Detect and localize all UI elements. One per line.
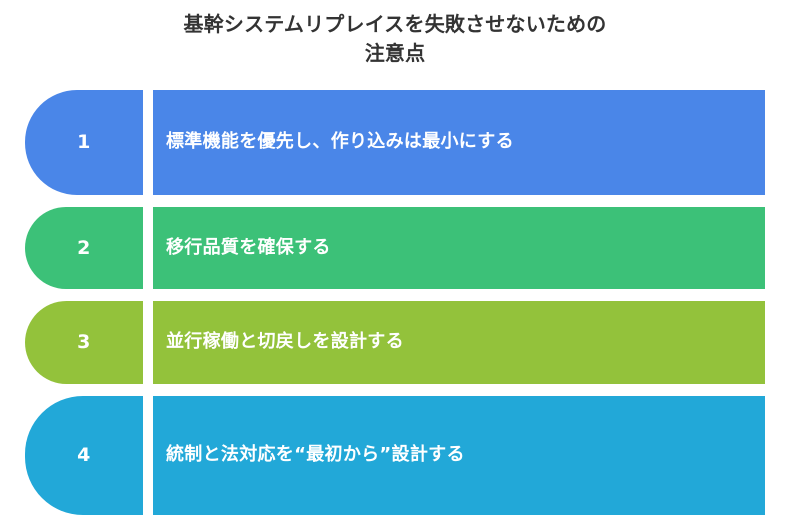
step-number-3: 3 [77,333,91,352]
steps-list: 1 標準機能を優先し、作り込みは最小にする 2 移行品質を確保する 3 並行稼働… [0,90,790,527]
step-number-4: 4 [77,446,91,465]
infographic-slide: 基幹システムリプレイスを失敗させないための 注意点 1 標準機能を優先し、作り込… [0,0,790,514]
step-bar-1[interactable]: 標準機能を優先し、作り込みは最小にする [153,90,765,195]
step-label-2: 移行品質を確保する [166,236,331,260]
step-number-badge-1: 1 [25,90,143,195]
badge-bar-separator [143,301,153,384]
list-item[interactable]: 4 統制と法対応を“最初から”設計する [0,396,790,515]
badge-bar-separator [143,396,153,515]
list-item[interactable]: 2 移行品質を確保する [0,207,790,289]
step-number-2: 2 [77,239,91,258]
page-title: 基幹システムリプレイスを失敗させないための 注意点 [0,10,790,68]
step-bar-2[interactable]: 移行品質を確保する [153,207,765,289]
step-label-4: 統制と法対応を“最初から”設計する [166,443,465,467]
step-bar-3[interactable]: 並行稼働と切戻しを設計する [153,301,765,384]
step-label-1: 標準機能を優先し、作り込みは最小にする [166,130,514,154]
step-number-badge-3: 3 [25,301,143,384]
list-item[interactable]: 1 標準機能を優先し、作り込みは最小にする [0,90,790,195]
badge-bar-separator [143,207,153,289]
step-label-3: 並行稼働と切戻しを設計する [166,330,404,354]
step-bar-4[interactable]: 統制と法対応を“最初から”設計する [153,396,765,515]
list-item[interactable]: 3 並行稼働と切戻しを設計する [0,301,790,384]
step-number-1: 1 [77,133,91,152]
step-number-badge-4: 4 [25,396,143,515]
step-number-badge-2: 2 [25,207,143,289]
badge-bar-separator [143,90,153,195]
